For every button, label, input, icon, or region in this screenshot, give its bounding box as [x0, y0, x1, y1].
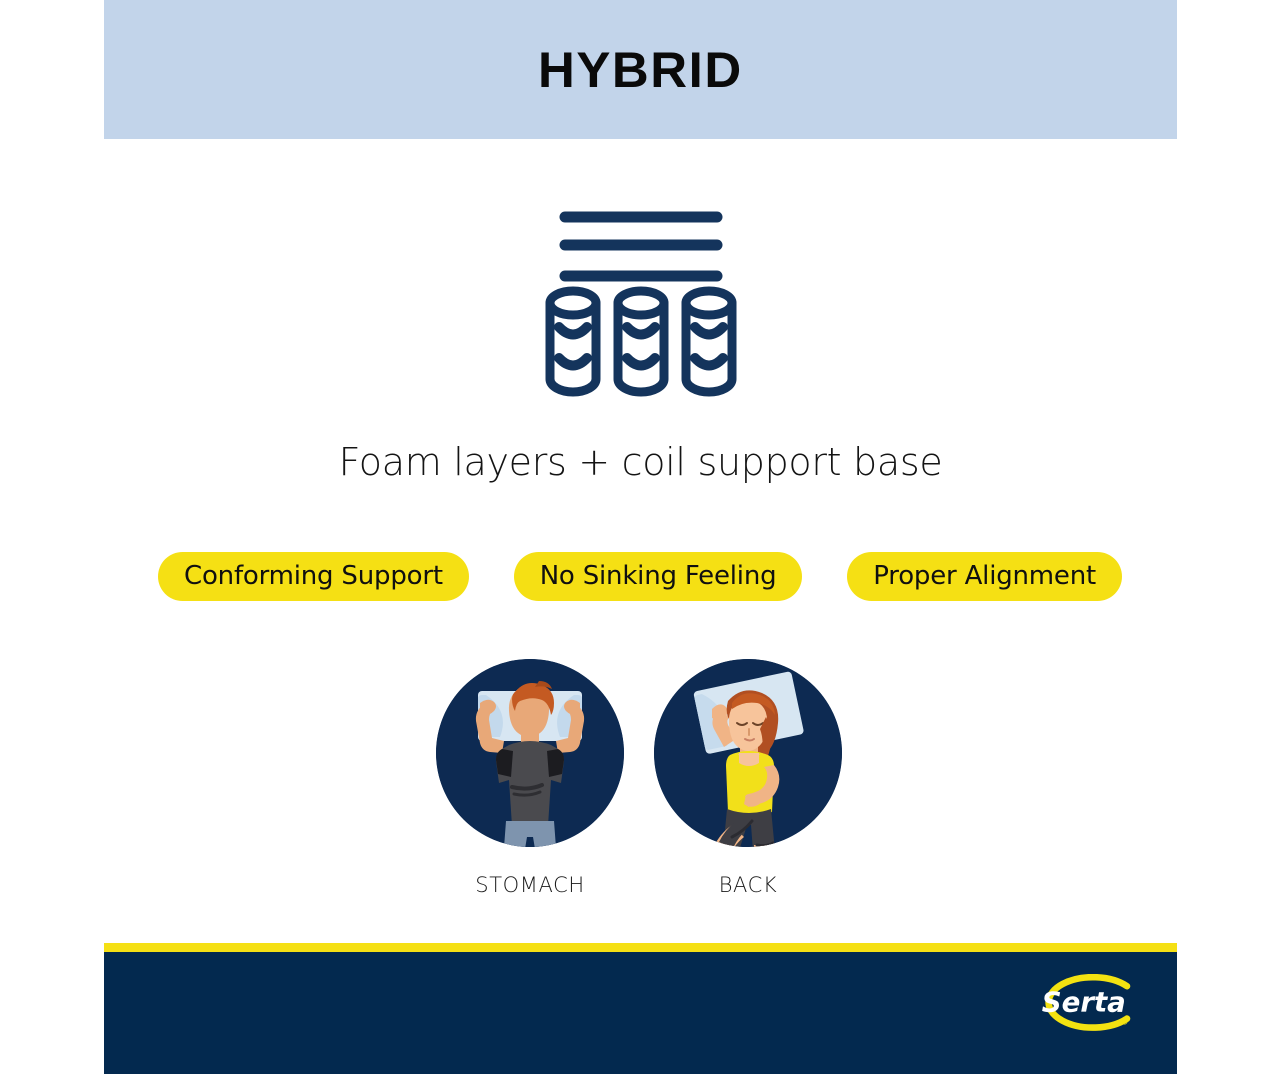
stomach-sleeper-illustration: [436, 659, 624, 847]
benefit-pill-no-sinking-feeling[interactable]: No Sinking Feeling: [514, 552, 803, 601]
footer-accent-rule: [104, 943, 1177, 952]
sleep-position-list: STOMACH: [104, 659, 1177, 919]
benefit-pill-proper-alignment[interactable]: Proper Alignment: [847, 552, 1122, 601]
card-header: HYBRID: [104, 0, 1177, 139]
sleep-position-back[interactable]: BACK: [654, 659, 842, 897]
serta-wordmark: Serta: [1042, 985, 1126, 1018]
registered-mark: ®: [1121, 1018, 1129, 1027]
stomach-sleeper-circle: [436, 659, 624, 847]
sleep-position-stomach[interactable]: STOMACH: [436, 659, 624, 897]
tagline: Foam layers + coil support base: [104, 440, 1177, 484]
back-sleeper-illustration: [654, 659, 842, 847]
hybrid-mattress-card: HYBRID: [104, 0, 1177, 1074]
card-footer: Serta ®: [104, 952, 1177, 1074]
serta-logo[interactable]: Serta ®: [1037, 974, 1133, 1032]
benefit-pill-list: Conforming Support No Sinking Feeling Pr…: [158, 551, 1122, 601]
back-sleeper-circle: [654, 659, 842, 847]
mattress-construction-icon-wrapper: [104, 200, 1177, 400]
infographic-page: HYBRID: [0, 0, 1280, 1074]
foam-layers-coils-icon: [541, 200, 741, 400]
page-title: HYBRID: [538, 45, 743, 95]
sleep-position-label-stomach: STOMACH: [436, 873, 624, 897]
benefit-pill-conforming-support[interactable]: Conforming Support: [158, 552, 469, 601]
sleep-position-label-back: BACK: [654, 873, 842, 897]
